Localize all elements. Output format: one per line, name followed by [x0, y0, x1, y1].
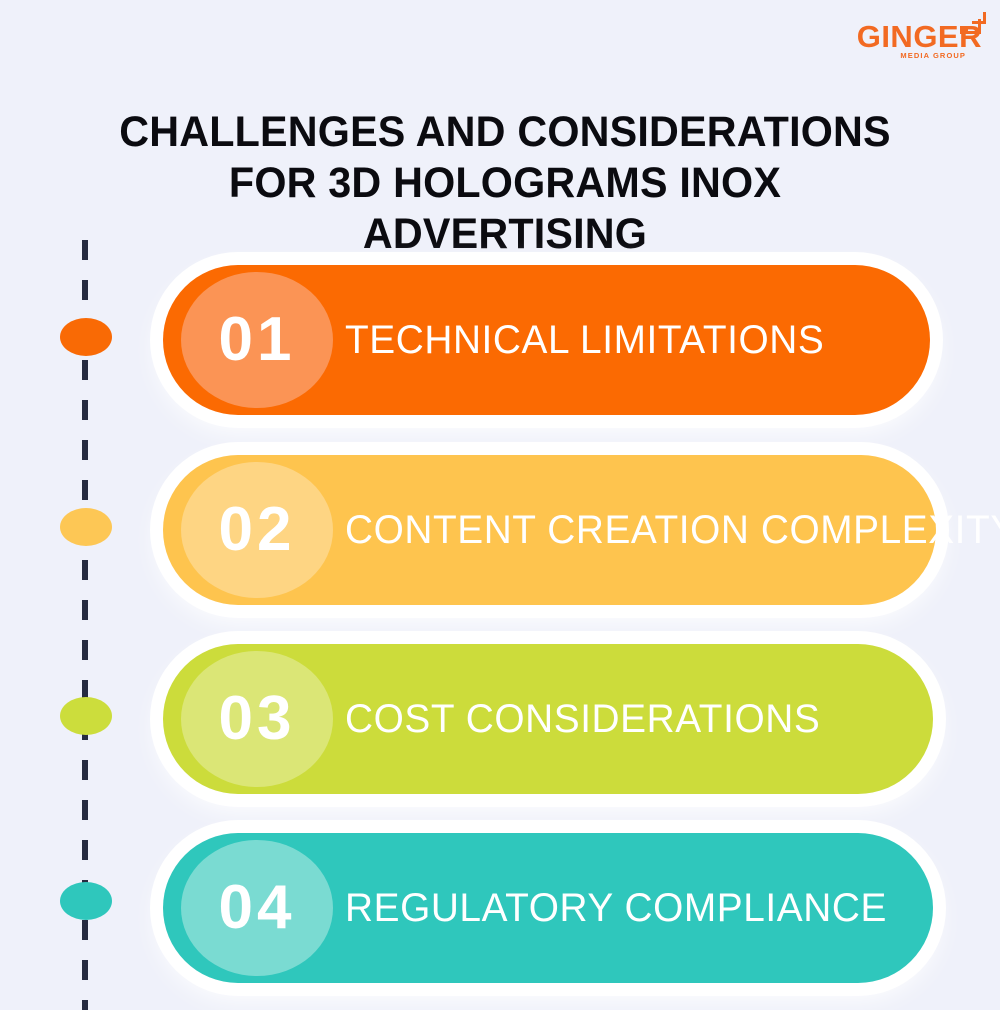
list-item[interactable]: 01 TECHNICAL LIMITATIONS	[163, 265, 933, 415]
item-number-badge-2: 02	[181, 462, 333, 598]
item-number-badge-3: 03	[181, 651, 333, 787]
brand-logo: GINGER MEDIA GROUP	[856, 4, 986, 62]
page-title-line-3: ADVERTISING	[78, 209, 932, 260]
item-label-4: REGULATORY COMPLIANCE	[345, 833, 887, 983]
page-title-line-2: FOR 3D HOLOGRAMS INOX	[78, 158, 932, 209]
bracket-square-icon	[958, 10, 986, 36]
item-label-2: CONTENT CREATION COMPLEXITY	[345, 455, 1000, 605]
page-title-line-1: CHALLENGES AND CONSIDERATIONS	[78, 107, 932, 158]
item-label-1: TECHNICAL LIMITATIONS	[345, 265, 824, 415]
timeline-dot-2	[60, 508, 112, 546]
list-item[interactable]: 04 REGULATORY COMPLIANCE	[163, 833, 933, 983]
item-number-badge-1: 01	[181, 272, 333, 408]
timeline-dot-4	[60, 882, 112, 920]
item-number-2: 02	[219, 499, 296, 561]
page-title: CHALLENGES AND CONSIDERATIONS FOR 3D HOL…	[78, 107, 932, 260]
item-number-3: 03	[219, 688, 296, 750]
list-item[interactable]: 02 CONTENT CREATION COMPLEXITY	[163, 455, 933, 605]
item-number-badge-4: 04	[181, 840, 333, 976]
timeline-dot-1	[60, 318, 112, 356]
timeline-dot-3	[60, 697, 112, 735]
item-label-3: COST CONSIDERATIONS	[345, 644, 820, 794]
list-item[interactable]: 03 COST CONSIDERATIONS	[163, 644, 933, 794]
item-number-1: 01	[219, 309, 296, 371]
item-number-4: 04	[219, 877, 296, 939]
